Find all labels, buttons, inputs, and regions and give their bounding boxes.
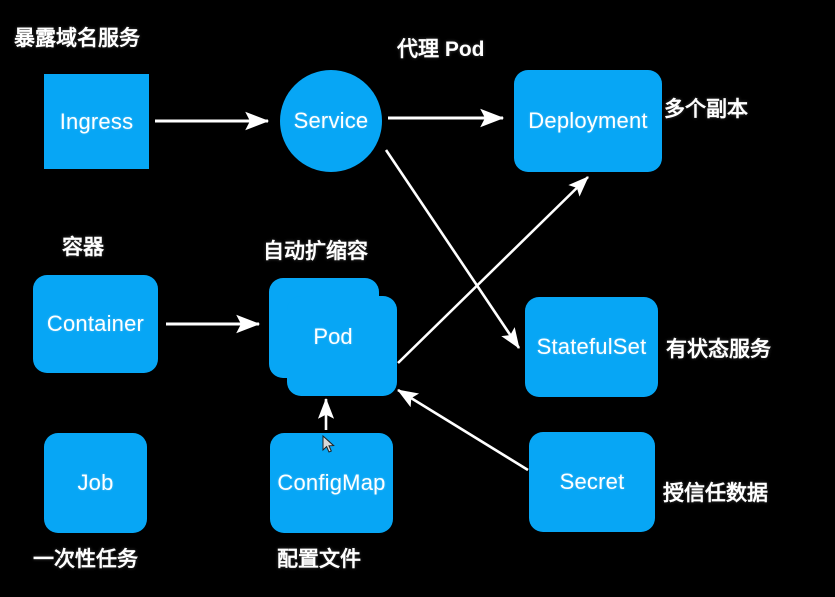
node-label-statefulset: StatefulSet [537,334,647,360]
annotation-job-note: 一次性任务 [33,543,138,573]
node-statefulset[interactable]: StatefulSet [525,297,658,397]
annotation-statefulset-note: 有状态服务 [666,333,771,363]
node-job[interactable]: Job [44,433,147,533]
node-service[interactable]: Service [280,70,382,172]
annotation-container-note: 容器 [62,231,104,261]
annotation-secret-note: 授信任数据 [663,477,768,507]
node-label-ingress: Ingress [60,109,134,135]
annotation-ingress-note: 暴露域名服务 [14,22,140,52]
annotation-deployment-note: 多个副本 [664,93,748,123]
node-label-pod: Pod [313,324,352,350]
edge-secret-to-pod [398,390,528,470]
edge-service-to-statefulset [386,150,519,348]
node-configmap[interactable]: ConfigMap [270,433,393,533]
node-secret[interactable]: Secret [529,432,655,532]
node-label-service: Service [294,108,369,134]
node-label-container: Container [47,311,144,337]
node-ingress[interactable]: Ingress [44,74,149,169]
annotation-pod-note: 自动扩缩容 [263,235,368,265]
node-label-deployment: Deployment [528,108,647,134]
annotation-service-note: 代理 Pod [397,33,485,63]
node-deployment[interactable]: Deployment [514,70,662,172]
node-container[interactable]: Container [33,275,158,373]
node-label-configmap: ConfigMap [277,470,385,496]
diagram-canvas: Ingress Service Deployment Container Pod… [0,0,835,597]
annotation-configmap-note: 配置文件 [277,543,361,573]
node-label-job: Job [77,470,113,496]
node-pod[interactable]: Pod [269,278,397,396]
node-label-secret: Secret [560,469,625,495]
